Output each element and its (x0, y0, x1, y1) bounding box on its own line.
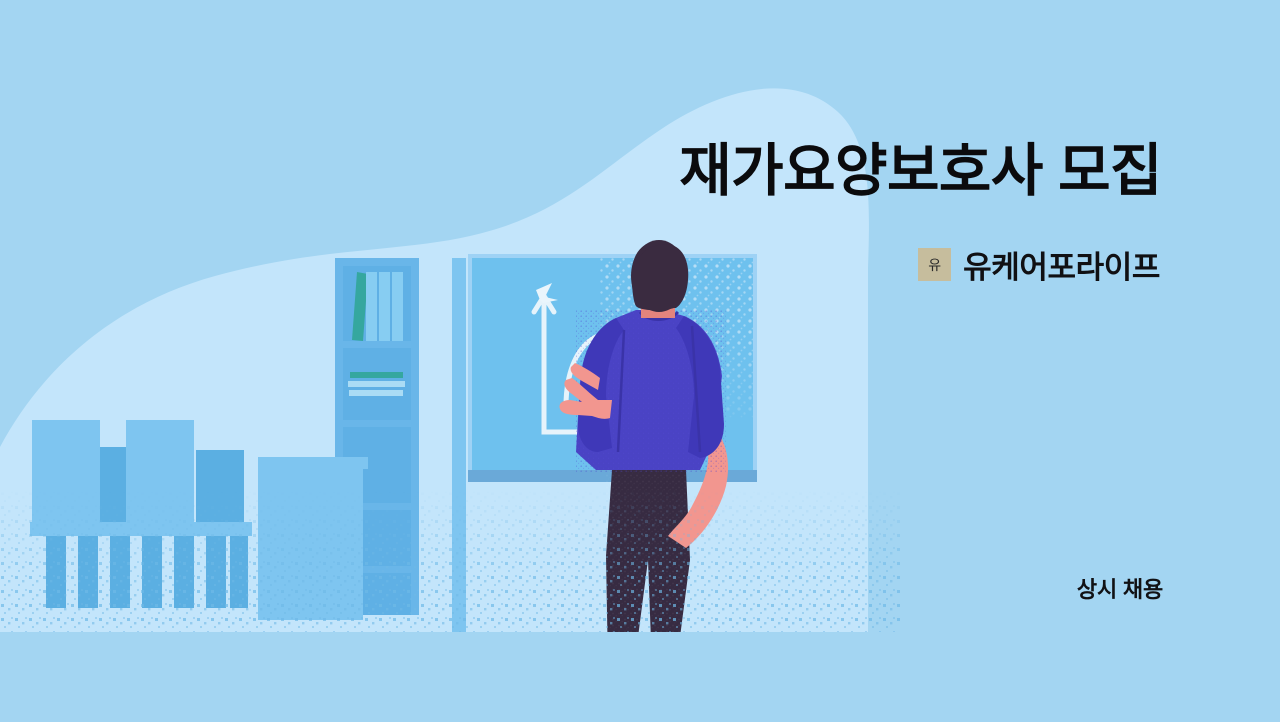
floor-texture (0, 490, 900, 640)
company-name: 유케어포라이프 (963, 242, 1160, 287)
floor-band (0, 632, 1280, 722)
company-logo-badge: 유 (918, 248, 951, 281)
company-row: 유 유케어포라이프 (918, 242, 1160, 287)
job-posting-poster: 재가요양보호사 모집 유 유케어포라이프 상시 채용 (0, 0, 1280, 722)
page-title: 재가요양보호사 모집 (679, 140, 1162, 204)
books-stacked (348, 372, 405, 396)
status-badge: 상시 채용 (1077, 572, 1163, 604)
office-illustration (0, 0, 1280, 722)
